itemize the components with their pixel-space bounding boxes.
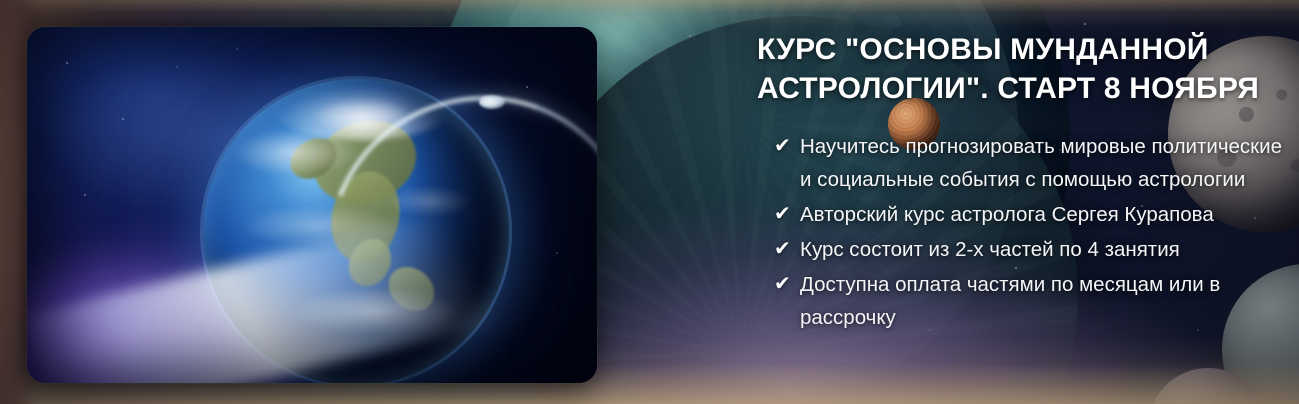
benefit-text: Курс состоит из 2-х частей по 4 занятия (800, 238, 1180, 261)
checkmark-icon: ✔ (774, 268, 796, 301)
benefit-text: Авторский курс астролога Сергея Курапова (800, 203, 1214, 226)
course-title: КУРС "ОСНОВЫ МУНДАННОЙ АСТРОЛОГИИ". СТАР… (757, 0, 1285, 108)
promo-content: КУРС "ОСНОВЫ МУНДАННОЙ АСТРОЛОГИИ". СТАР… (757, 0, 1285, 404)
comet-head-icon (479, 95, 505, 109)
benefit-item: ✔ Курс состоит из 2-х частей по 4 заняти… (757, 233, 1285, 266)
course-hero-image (27, 27, 597, 383)
benefit-text: Научитесь прогнозировать мировые политич… (800, 135, 1282, 191)
benefit-item: ✔ Авторский курс астролога Сергея Курапо… (757, 198, 1285, 231)
benefit-text: Доступна оплата частями по месяцам или в… (800, 273, 1220, 329)
checkmark-icon: ✔ (774, 198, 796, 231)
benefit-item: ✔ Доступна оплата частями по месяцам или… (757, 268, 1285, 334)
benefit-item: ✔ Научитесь прогнозировать мировые полит… (757, 130, 1285, 196)
benefits-list: ✔ Научитесь прогнозировать мировые полит… (757, 130, 1285, 334)
checkmark-icon: ✔ (774, 130, 796, 163)
course-promo-banner: КУРС "ОСНОВЫ МУНДАННОЙ АСТРОЛОГИИ". СТАР… (0, 0, 1299, 404)
checkmark-icon: ✔ (774, 233, 796, 266)
